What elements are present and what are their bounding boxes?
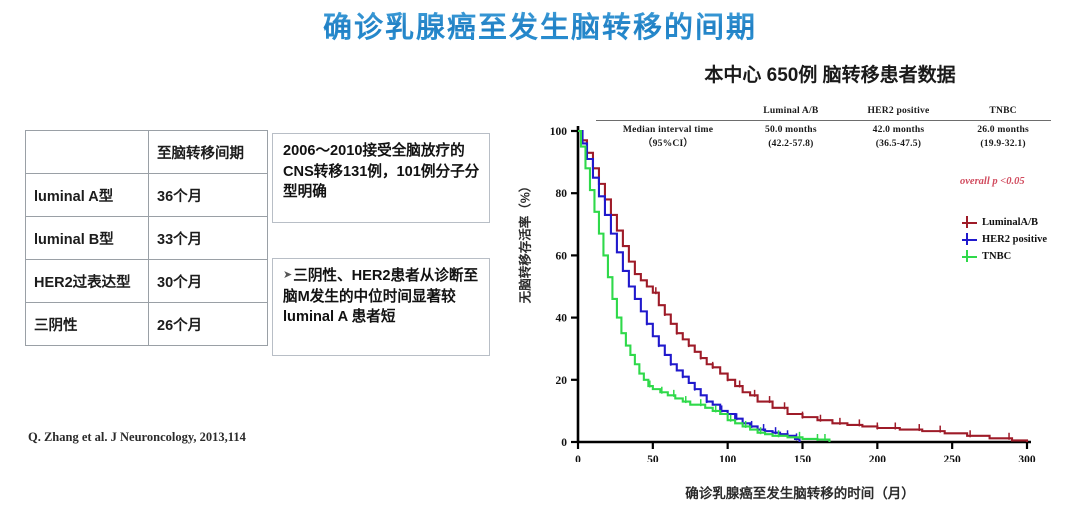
citation: Q. Zhang et al. J Neuroncology, 2013,114 — [28, 430, 246, 445]
svg-text:150: 150 — [794, 454, 812, 462]
row-interval: 30个月 — [149, 260, 268, 303]
row-interval: 36个月 — [149, 174, 268, 217]
table-header-interval: 至脑转移间期 — [149, 131, 268, 174]
kaplan-meier-plot: 050100150200250300020406080100 — [496, 112, 1056, 462]
svg-text:200: 200 — [869, 454, 887, 462]
cohort-text: 2006～2010接受全脑放疗的CNS转移131例，101例分子分型明确 — [283, 143, 479, 200]
svg-text:40: 40 — [556, 313, 568, 325]
svg-text:20: 20 — [556, 375, 568, 387]
conclusion-textbox: ➤三阴性、HER2患者从诊断至脑M发生的中位时间显著较luminal A 患者短 — [272, 258, 490, 356]
svg-text:80: 80 — [556, 188, 568, 200]
row-interval: 26个月 — [149, 303, 268, 346]
page-title: 确诊乳腺癌至发生脑转移的间期 — [0, 4, 1080, 46]
row-interval: 33个月 — [149, 217, 268, 260]
svg-text:60: 60 — [556, 250, 568, 262]
chart-heading: 本中心 650例 脑转移患者数据 — [640, 60, 1020, 87]
conclusion-text: 三阴性、HER2患者从诊断至脑M发生的中位时间显著较luminal A 患者短 — [283, 268, 478, 325]
table-row: luminal B型 33个月 — [26, 217, 268, 260]
table-row: HER2过表达型 30个月 — [26, 260, 268, 303]
svg-text:250: 250 — [944, 454, 962, 462]
svg-text:300: 300 — [1018, 454, 1036, 462]
table-row: luminal A型 36个月 — [26, 174, 268, 217]
y-axis-title: 无脑转移存活率（%） — [515, 162, 534, 322]
x-axis-title: 确诊乳腺癌至发生脑转移的时间（月） — [600, 482, 1000, 502]
svg-text:100: 100 — [550, 126, 568, 138]
arrow-bullet-icon: ➤ — [283, 268, 292, 284]
table-row: 三阴性 26个月 — [26, 303, 268, 346]
row-subtype: luminal B型 — [26, 217, 149, 260]
row-subtype: HER2过表达型 — [26, 260, 149, 303]
svg-text:50: 50 — [647, 454, 659, 462]
row-subtype: luminal A型 — [26, 174, 149, 217]
table-header-row: 至脑转移间期 — [26, 131, 268, 174]
svg-text:0: 0 — [575, 454, 581, 462]
svg-text:100: 100 — [719, 454, 737, 462]
km-svg-canvas: 050100150200250300020406080100 — [496, 112, 1056, 462]
table-header-corner — [26, 131, 149, 174]
row-subtype: 三阴性 — [26, 303, 149, 346]
cohort-textbox: 2006～2010接受全脑放疗的CNS转移131例，101例分子分型明确 — [272, 133, 490, 223]
subtype-interval-table: 至脑转移间期 luminal A型 36个月 luminal B型 33个月 H… — [25, 130, 268, 346]
svg-text:0: 0 — [561, 437, 567, 449]
